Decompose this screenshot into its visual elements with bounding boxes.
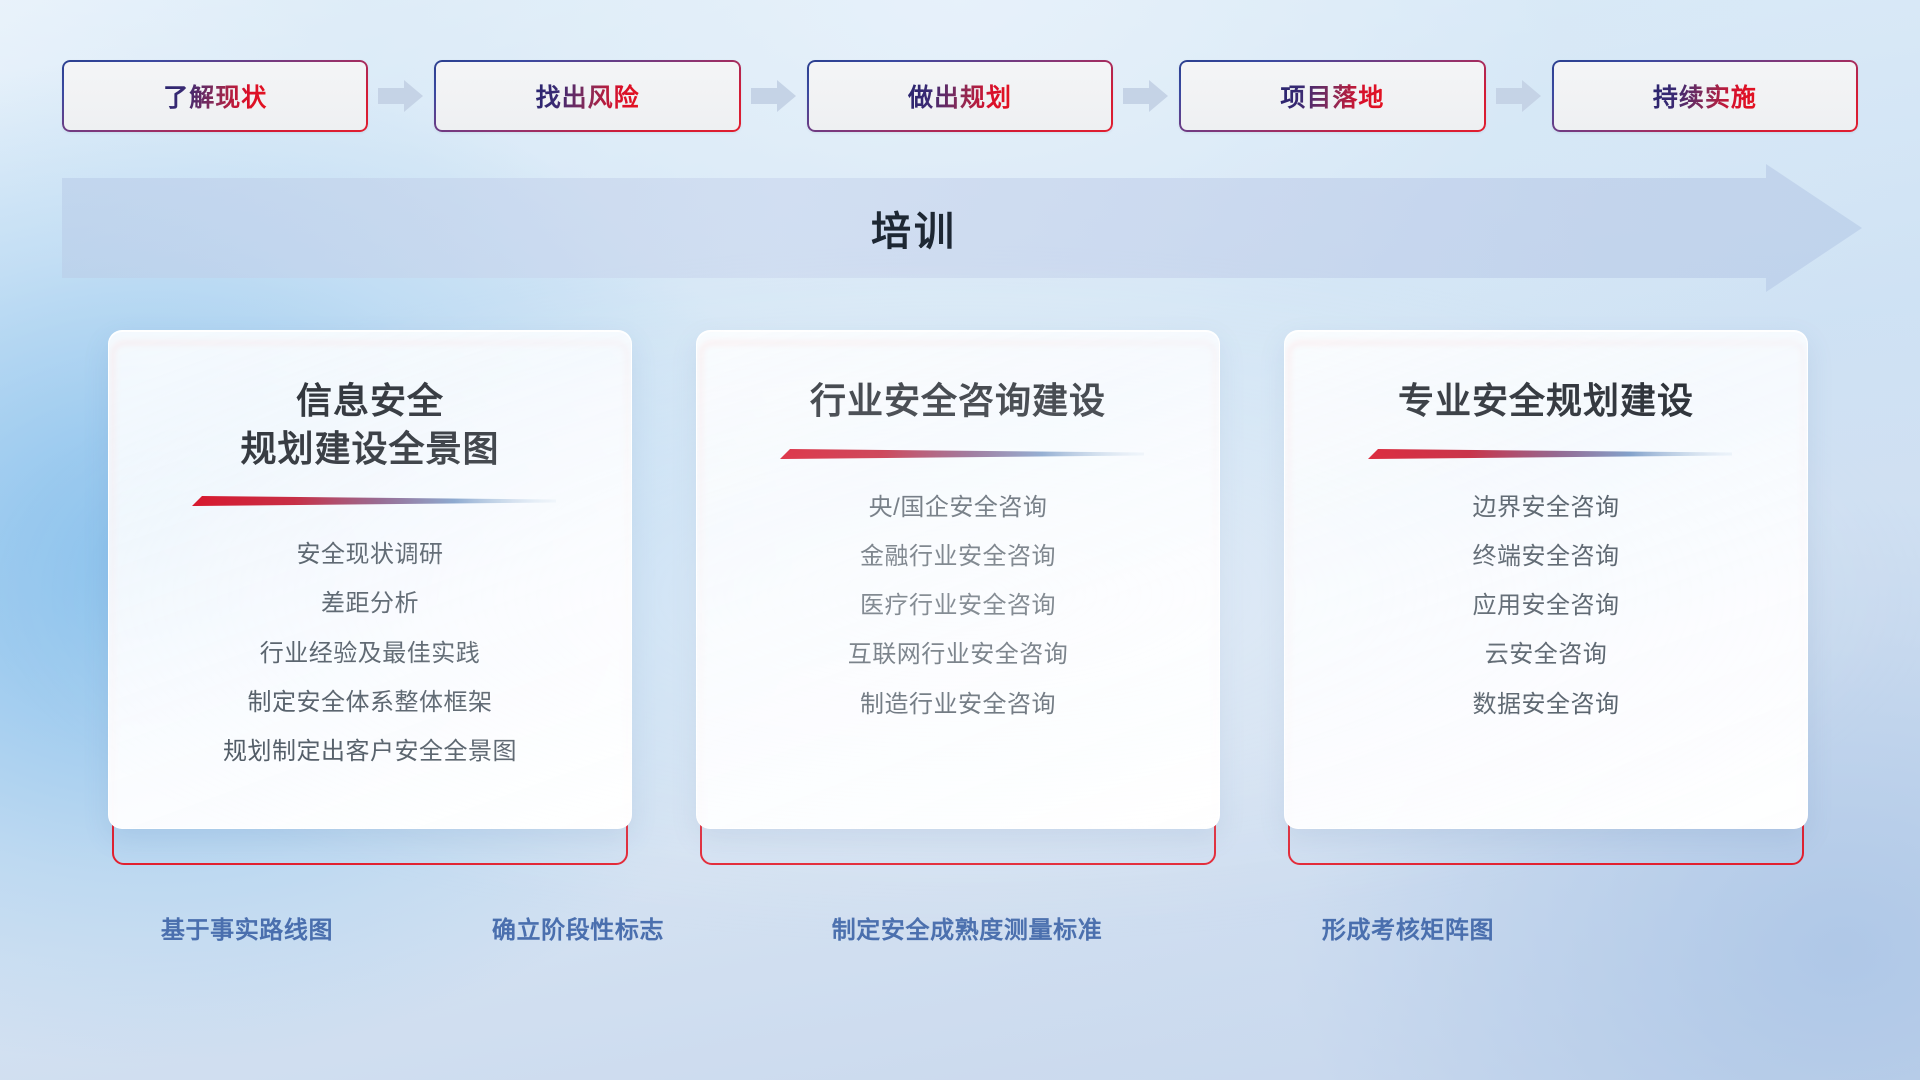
card-2[interactable]: 行业安全咨询建设 [696,330,1220,829]
step-box-1[interactable]: 了解现状 [62,60,368,132]
step-box-2[interactable]: 找出风险 [434,60,740,132]
list-item: 数据安全咨询 [1473,684,1620,725]
step-label: 持续实施 [1653,78,1757,114]
list-item: 云安全咨询 [1485,634,1608,675]
caption-row: 基于事实路线图 确立阶段性标志 制定安全成熟度测量标准 形成考核矩阵图 [0,910,1920,960]
step-label: 找出风险 [536,78,640,114]
card-1[interactable]: 信息安全 规划建设全景图 [108,330,632,829]
step-label: 了解现状 [163,78,267,114]
caption-label: 确立阶段性标志 [492,910,664,945]
list-item: 终端安全咨询 [1473,536,1620,577]
card-row: 信息安全 规划建设全景图 [108,330,1808,865]
arrow-right-icon [1486,76,1552,116]
card-wrapper-3: 专业安全规划建设 [1284,330,1808,865]
arrow-right-icon [368,76,434,116]
card-title: 行业安全咨询建设 [810,377,1106,425]
card-title: 信息安全 规划建设全景图 [240,377,499,472]
step-label: 做出规划 [908,78,1012,114]
step-label: 项目落地 [1280,78,1384,114]
process-step-row: 了解现状 找出风险 做出规划 项目落地 [62,60,1858,132]
card-wrapper-2: 行业安全咨询建设 [696,330,1220,865]
caption-label: 基于事实路线图 [161,910,333,945]
step-box-5[interactable]: 持续实施 [1552,60,1858,132]
card-divider-icon [1360,447,1732,463]
slide-canvas: 了解现状 找出风险 做出规划 项目落地 [0,0,1920,1080]
list-item: 医疗行业安全咨询 [860,585,1056,626]
list-item: 安全现状调研 [297,534,444,575]
list-item: 差距分析 [321,583,419,624]
list-item: 制造行业安全咨询 [860,684,1056,725]
list-item: 央/国企安全咨询 [869,487,1048,528]
card-wrapper-1: 信息安全 规划建设全景图 [108,330,632,865]
arrow-right-icon [741,76,807,116]
list-item: 制定安全体系整体框架 [248,682,493,723]
banner-title: 培训 [62,164,1766,292]
step-box-4[interactable]: 项目落地 [1179,60,1485,132]
list-item: 互联网行业安全咨询 [848,634,1069,675]
caption-label: 形成考核矩阵图 [1322,910,1494,945]
card-3[interactable]: 专业安全规划建设 [1284,330,1808,829]
list-item: 行业经验及最佳实践 [260,633,481,674]
list-item: 金融行业安全咨询 [860,536,1056,577]
card-list: 边界安全咨询 终端安全咨询 应用安全咨询 云安全咨询 数据安全咨询 [1473,487,1620,725]
training-banner: 培训 [62,164,1862,292]
caption-label: 制定安全成熟度测量标准 [832,910,1103,945]
list-item: 应用安全咨询 [1473,585,1620,626]
arrow-right-icon [1113,76,1179,116]
list-item: 规划制定出客户安全全景图 [223,731,517,772]
card-list: 安全现状调研 差距分析 行业经验及最佳实践 制定安全体系整体框架 规划制定出客户… [223,534,517,772]
card-title: 专业安全规划建设 [1398,377,1694,425]
card-divider-icon [184,494,556,510]
list-item: 边界安全咨询 [1473,487,1620,528]
card-list: 央/国企安全咨询 金融行业安全咨询 医疗行业安全咨询 互联网行业安全咨询 制造行… [848,487,1069,725]
step-box-3[interactable]: 做出规划 [807,60,1113,132]
card-divider-icon [772,447,1144,463]
